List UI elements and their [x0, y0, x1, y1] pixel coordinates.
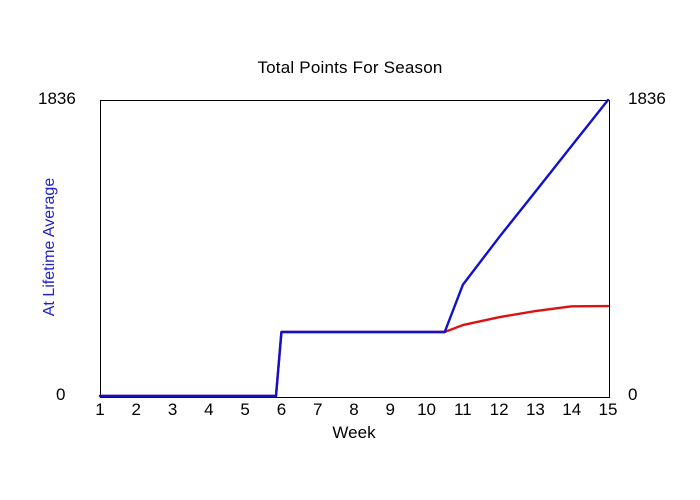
line-at-season-average: [100, 306, 608, 396]
y-axis-left-max-label: 1836: [38, 89, 76, 109]
y-axis-left-min-label: 0: [56, 385, 65, 405]
plot-lines: [100, 100, 608, 396]
x-axis-title: Week: [100, 423, 608, 443]
x-tick-label-9: 9: [386, 400, 395, 420]
y-axis-right-max-label: 1836: [628, 89, 666, 109]
x-tick-label-11: 11: [454, 400, 472, 420]
y-axis-left-title: At Lifetime Average: [41, 162, 59, 332]
x-tick-label-1: 1: [95, 400, 104, 420]
line-at-lifetime-average: [100, 100, 608, 396]
x-tick-label-2: 2: [132, 400, 141, 420]
x-tick-label-13: 13: [526, 400, 545, 420]
x-tick-label-6: 6: [277, 400, 286, 420]
x-tick-label-8: 8: [349, 400, 358, 420]
x-tick-label-14: 14: [562, 400, 581, 420]
x-tick-label-4: 4: [204, 400, 213, 420]
x-tick-label-7: 7: [313, 400, 322, 420]
x-tick-label-10: 10: [417, 400, 436, 420]
chart-title: Total Points For Season: [0, 58, 700, 78]
x-tick-label-12: 12: [490, 400, 509, 420]
chart-container: Total Points For Season 1836 0 1836 0 At…: [0, 0, 700, 500]
y-axis-right-min-label: 0: [628, 385, 637, 405]
x-tick-label-5: 5: [240, 400, 249, 420]
x-axis-tick-labels: 123456789101112131415: [100, 400, 608, 424]
x-tick-label-3: 3: [168, 400, 177, 420]
x-tick-label-15: 15: [599, 400, 618, 420]
